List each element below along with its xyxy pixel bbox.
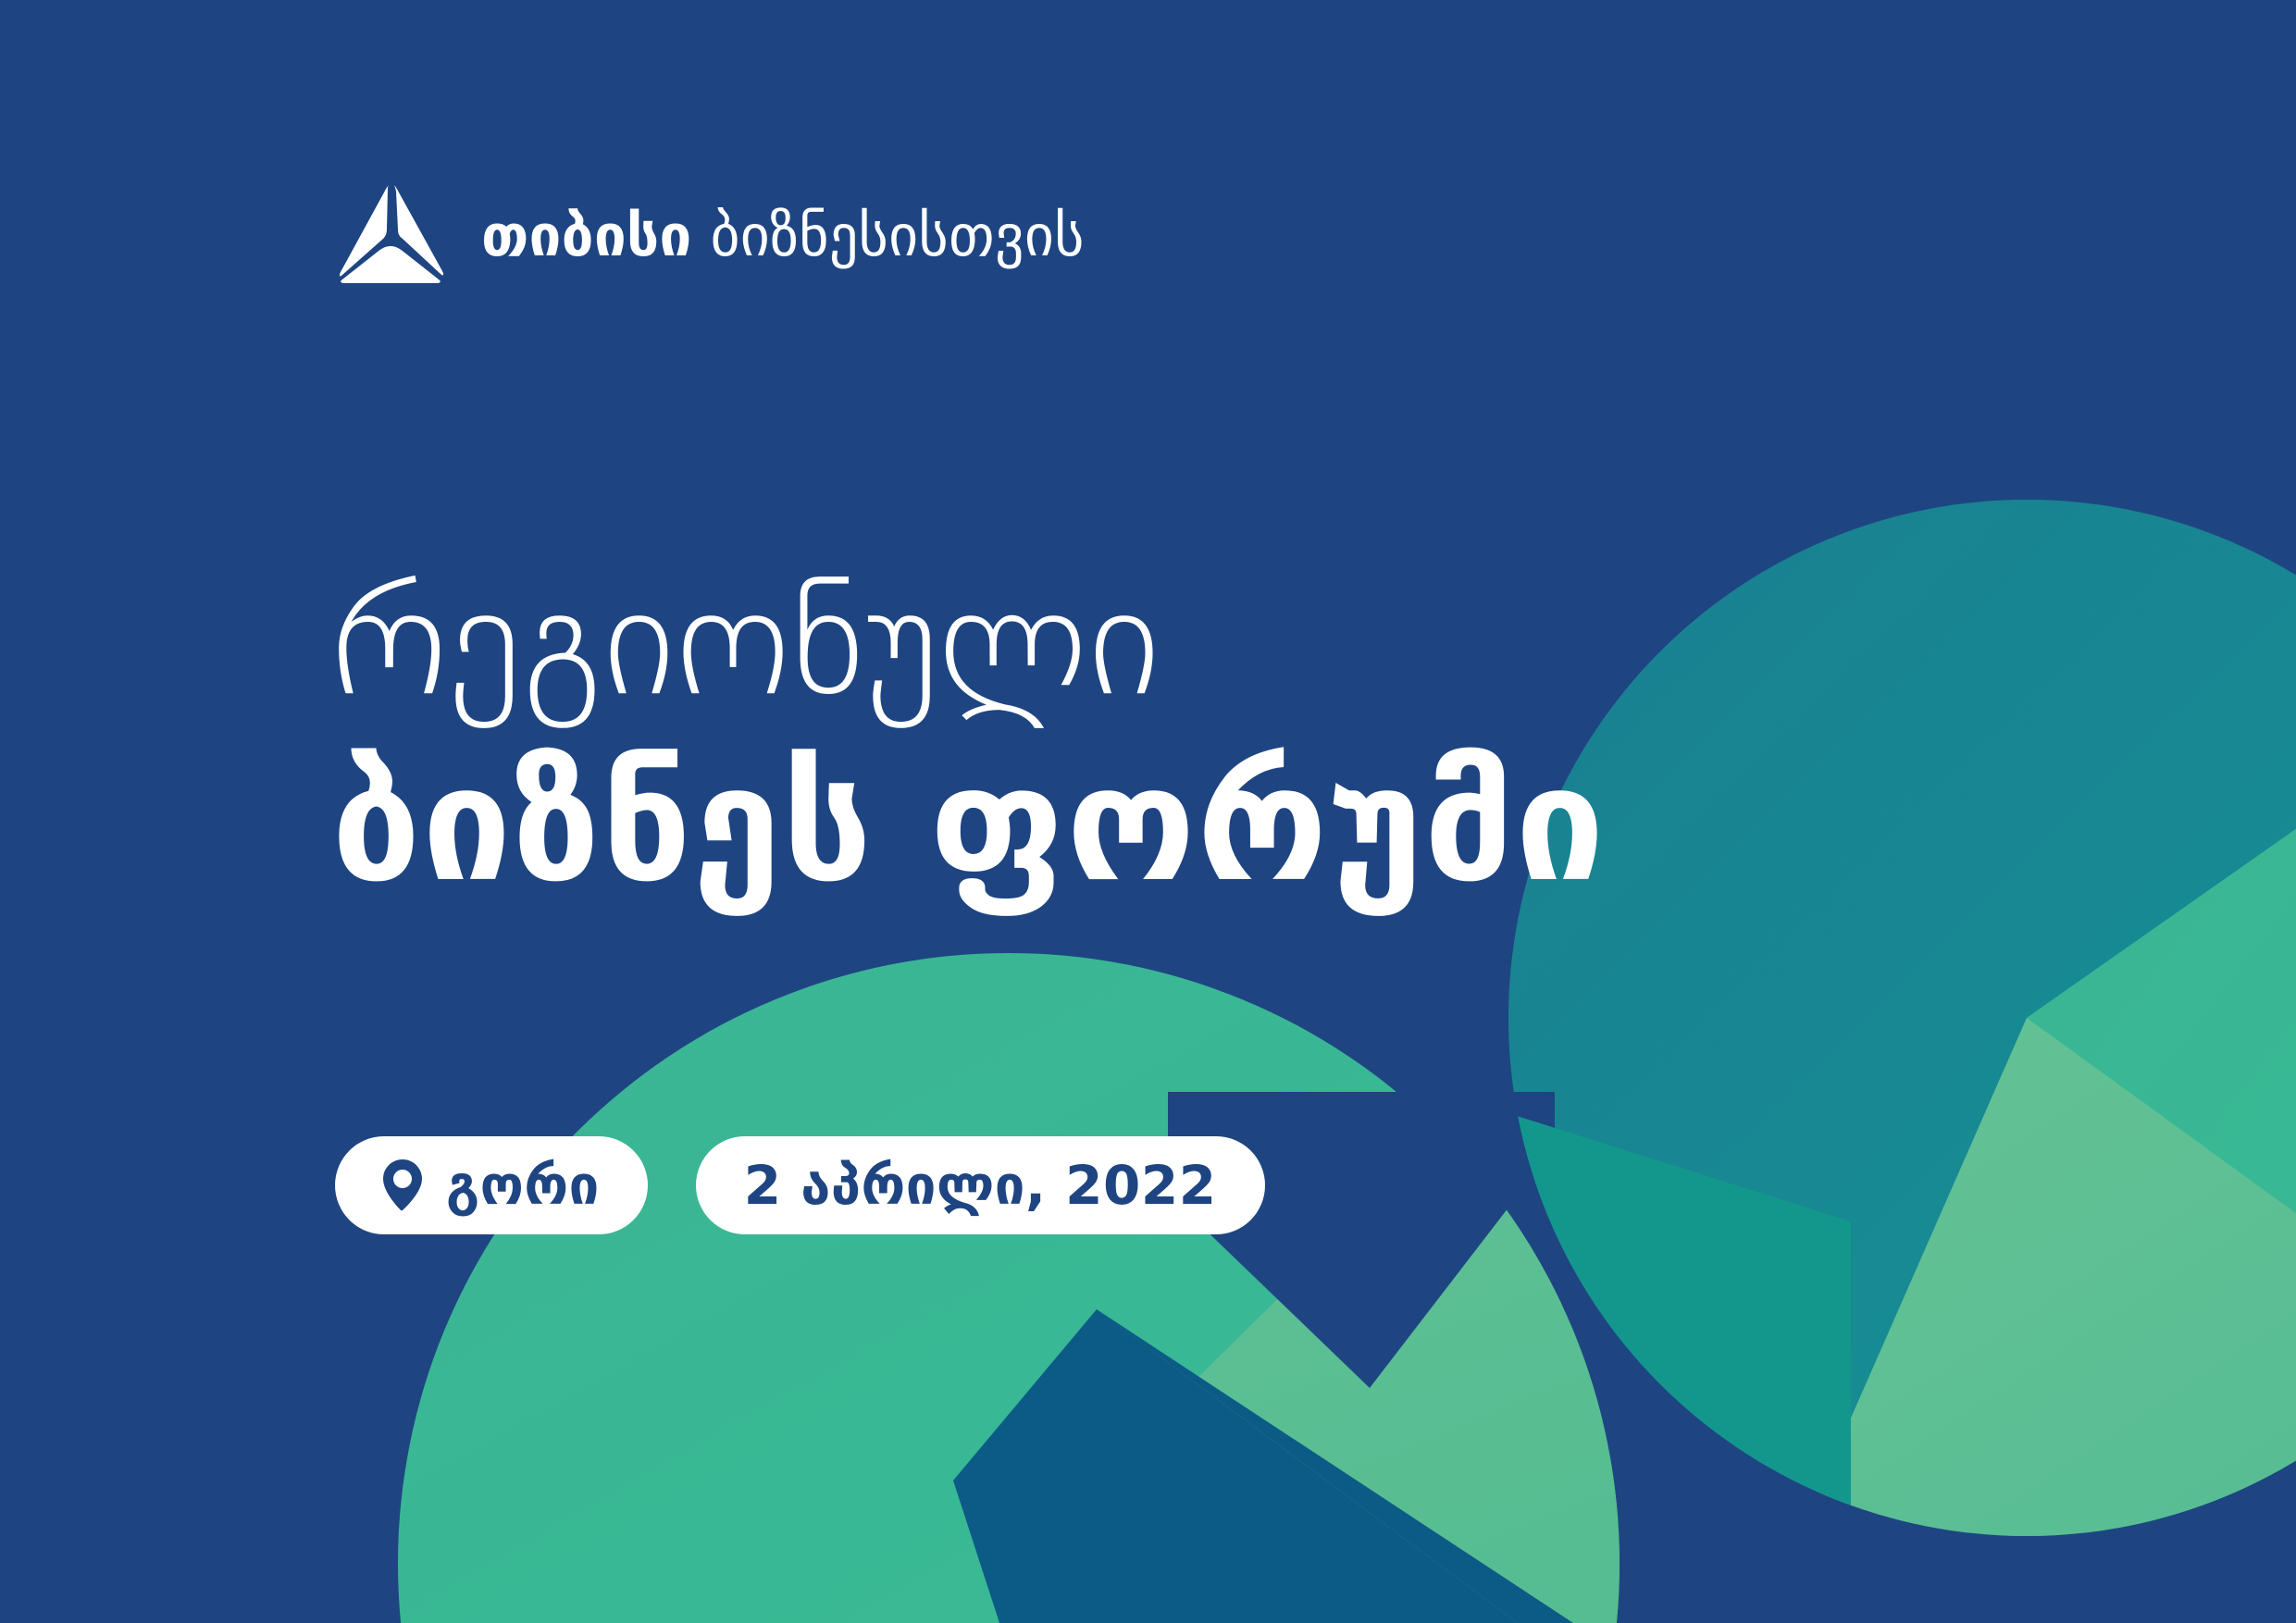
map-pin-icon [383,1159,422,1211]
logo: თიბისი ბიზნესისთვის [331,181,1085,291]
page-title: რეგიონული ბიზნეს ფორუმი [331,555,1606,914]
event-banner: თიბისი ბიზნესისთვის რეგიონული ბიზნეს ფორ… [0,0,2296,1623]
location-pill: გორი [335,1136,648,1234]
date-label: 2 აპრილი, 2022 [744,1158,1217,1212]
tbc-triangle-logo-icon [331,181,450,291]
logo-tagline: ბიზნესისთვის [710,202,1084,269]
logo-brand: თიბისი [481,202,692,269]
event-meta-row: გორი 2 აპრილი, 2022 [335,1136,1265,1234]
headline-line-1: რეგიონული [331,555,1606,729]
date-pill: 2 აპრილი, 2022 [696,1136,1265,1234]
logo-text: თიბისი ბიზნესისთვის [481,207,1085,265]
headline-line-2: ბიზნეს ფორუმი [331,735,1606,914]
location-label: გორი [446,1158,600,1212]
